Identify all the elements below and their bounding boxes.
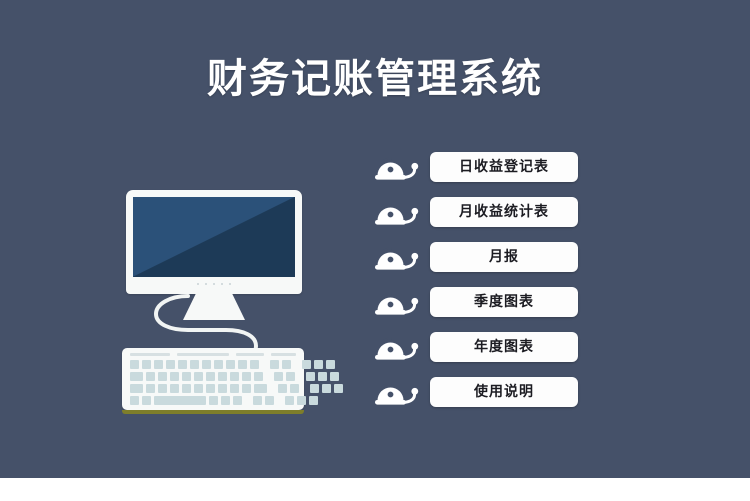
page-title: 财务记账管理系统: [0, 55, 750, 103]
alarm-bell-icon: [372, 148, 422, 188]
keyboard-keys: [130, 360, 296, 408]
application-window: 财务记账管理系统: [0, 0, 750, 501]
menu-button-annual-chart[interactable]: 年度图表: [430, 332, 578, 362]
menu-button-label: 季度图表: [474, 287, 534, 317]
menu-button-quarterly-chart[interactable]: 季度图表: [430, 287, 578, 317]
keyboard-function-row: [130, 353, 296, 356]
menu-row: 月收益统计表: [372, 191, 584, 236]
alarm-bell-icon: [372, 328, 422, 368]
menu-button-label: 日收益登记表: [459, 152, 549, 182]
alarm-bell-icon: [372, 193, 422, 233]
monitor-indicator-dots: [133, 281, 295, 287]
menu-row: 日收益登记表: [372, 146, 584, 191]
menu-button-label: 月收益统计表: [459, 197, 549, 227]
menu-row: 使用说明: [372, 371, 584, 416]
menu-button-instructions[interactable]: 使用说明: [430, 377, 578, 407]
alarm-bell-icon: [372, 283, 422, 323]
keyboard-base-strip: [122, 410, 304, 414]
menu-button-monthly-income-statistics[interactable]: 月收益统计表: [430, 197, 578, 227]
menu-button-monthly-report[interactable]: 月报: [430, 242, 578, 272]
menu-button-label: 使用说明: [474, 377, 534, 407]
menu-button-label: 年度图表: [474, 332, 534, 362]
keyboard-icon: [122, 348, 304, 410]
menu-row: 季度图表: [372, 281, 584, 326]
computer-illustration: [108, 180, 318, 420]
menu-row: 月报: [372, 236, 584, 281]
menu-list: 日收益登记表 月收益统计表: [372, 146, 584, 416]
screen-gradient: [133, 197, 295, 277]
alarm-bell-icon: [372, 373, 422, 413]
main-panel: 财务记账管理系统: [0, 0, 750, 478]
monitor-screen: [133, 197, 295, 277]
alarm-bell-icon: [372, 238, 422, 278]
menu-button-label: 月报: [489, 242, 519, 272]
monitor-icon: [126, 190, 302, 294]
menu-button-daily-income[interactable]: 日收益登记表: [430, 152, 578, 182]
menu-row: 年度图表: [372, 326, 584, 371]
